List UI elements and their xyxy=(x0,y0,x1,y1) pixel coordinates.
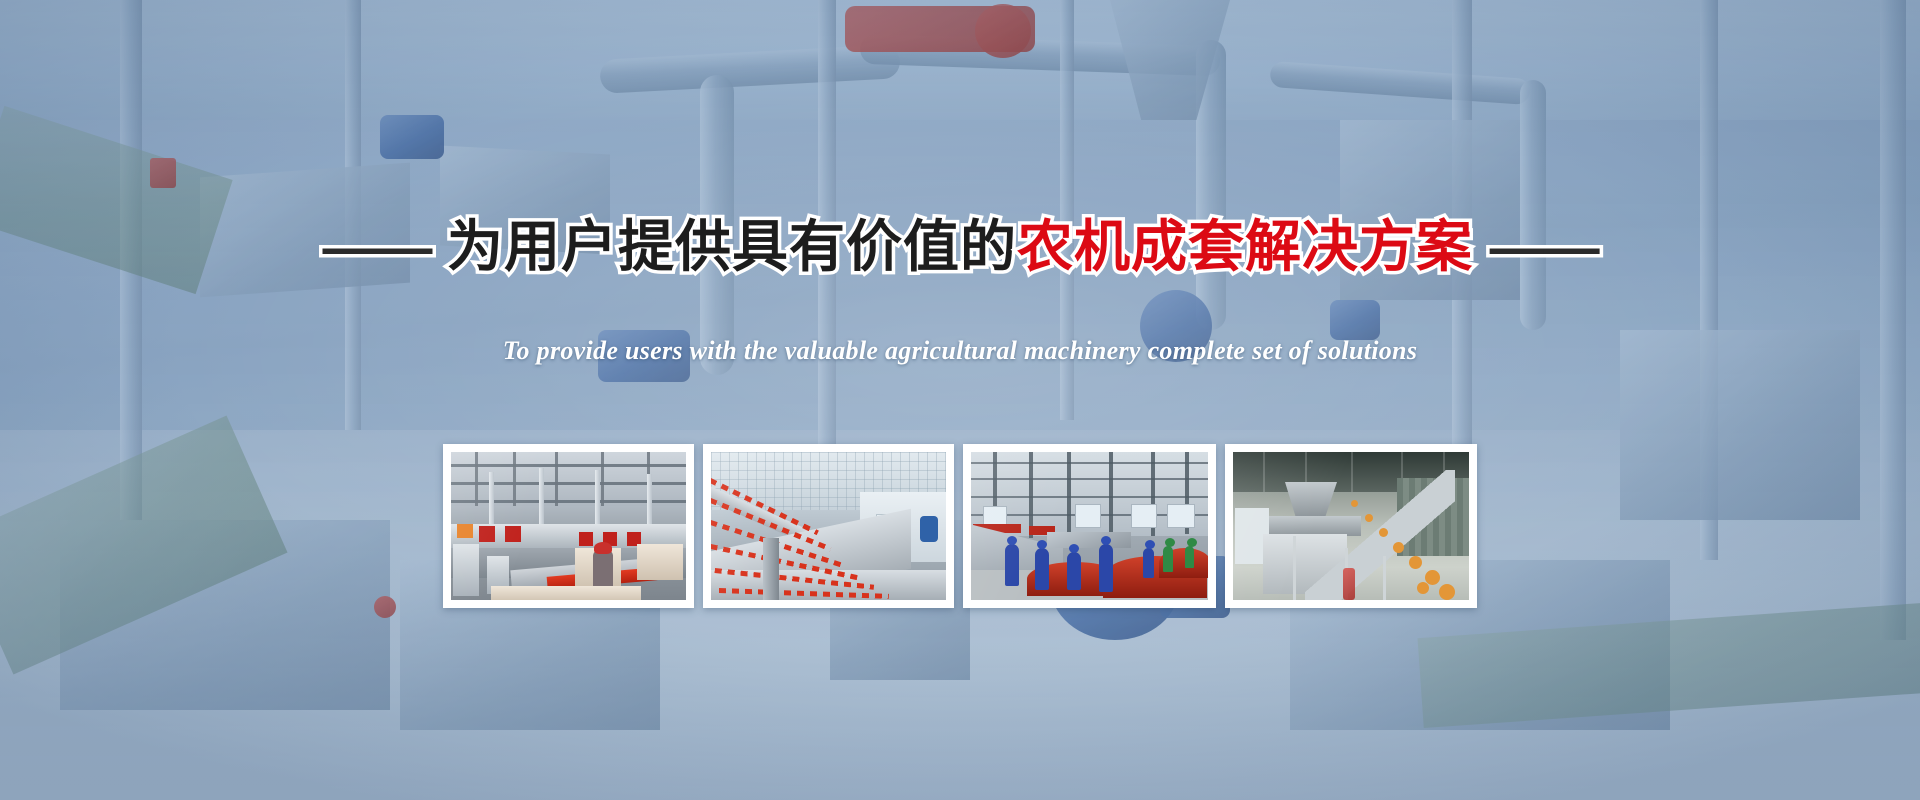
t4-red-cabinet xyxy=(1343,568,1355,600)
t1-truss-2 xyxy=(513,452,516,506)
t4-produce-6 xyxy=(1425,570,1440,585)
t1-red-banner-2 xyxy=(505,526,521,542)
subtitle: To provide users with the valuable agric… xyxy=(0,336,1920,366)
headline: —— 为用户提供具有价值的农机成套解决方案 —— xyxy=(0,218,1920,276)
t3-beam-1 xyxy=(971,462,1208,464)
headline-black-text: 为用户提供具有价值的 xyxy=(447,215,1017,278)
t3-worker-4 xyxy=(1099,544,1113,592)
t1-worker-hat xyxy=(594,542,612,554)
t1-truss-3 xyxy=(555,452,558,506)
thumbnail-4[interactable] xyxy=(1225,444,1477,608)
t4-produce-7 xyxy=(1439,584,1455,600)
t4-leg-3 xyxy=(1383,556,1386,600)
thumbnail-row xyxy=(443,444,1477,608)
t1-rack-left xyxy=(453,544,479,596)
t4-produce-4 xyxy=(1393,542,1404,553)
headline-right-dash: —— xyxy=(1490,215,1598,278)
t3-worker-5 xyxy=(1143,548,1154,578)
thumbnail-1-photo xyxy=(451,452,686,600)
t1-red-banner-1 xyxy=(479,526,495,542)
t4-leg-1 xyxy=(1293,536,1296,600)
t1-red-lamp xyxy=(457,524,473,538)
t4-produce-8 xyxy=(1417,582,1429,594)
thumbnail-3[interactable] xyxy=(963,444,1216,608)
t3-window-2 xyxy=(1075,504,1101,528)
thumbnail-2-photo xyxy=(711,452,946,600)
t3-worker-1 xyxy=(1005,544,1019,586)
thumbnail-4-photo xyxy=(1233,452,1469,600)
t3-worker-7 xyxy=(1185,546,1194,568)
t3-worker-6 xyxy=(1163,546,1173,572)
banner-content: —— 为用户提供具有价值的农机成套解决方案 —— To provide user… xyxy=(0,0,1920,800)
t1-truss-1 xyxy=(475,452,478,506)
t1-crate-stack-2 xyxy=(637,544,683,580)
t3-worker-3 xyxy=(1067,552,1081,590)
t2-center-frame xyxy=(763,538,779,600)
t1-beam-1 xyxy=(451,464,686,467)
t1-truss-4 xyxy=(601,452,604,506)
t4-produce-3 xyxy=(1379,528,1388,537)
headline-red-text: 农机成套解决方案 xyxy=(1017,215,1473,278)
t3-window-4 xyxy=(1167,504,1195,528)
t2-blue-motor xyxy=(920,516,938,542)
thumbnail-2[interactable] xyxy=(703,444,954,608)
t1-foreground-crates xyxy=(491,586,641,600)
t4-produce-2 xyxy=(1365,514,1373,522)
thumbnail-3-photo xyxy=(971,452,1208,600)
t3-column-3 xyxy=(1067,452,1071,540)
headline-left-dash: —— xyxy=(322,215,430,278)
t3-beam-2 xyxy=(971,478,1208,480)
hero-banner: —— 为用户提供具有价值的农机成套解决方案 —— To provide user… xyxy=(0,0,1920,800)
t1-red-banner-3 xyxy=(579,532,593,546)
t3-worker-2 xyxy=(1035,548,1049,590)
t3-window-3 xyxy=(1131,504,1157,528)
t3-column-4 xyxy=(1109,452,1113,538)
t4-produce-1 xyxy=(1351,500,1358,507)
t4-produce-5 xyxy=(1409,556,1422,569)
t3-platform xyxy=(1047,532,1131,548)
thumbnail-1[interactable] xyxy=(443,444,694,608)
t3-beam-3 xyxy=(971,496,1208,498)
t4-roof-rib-1 xyxy=(1263,452,1265,492)
